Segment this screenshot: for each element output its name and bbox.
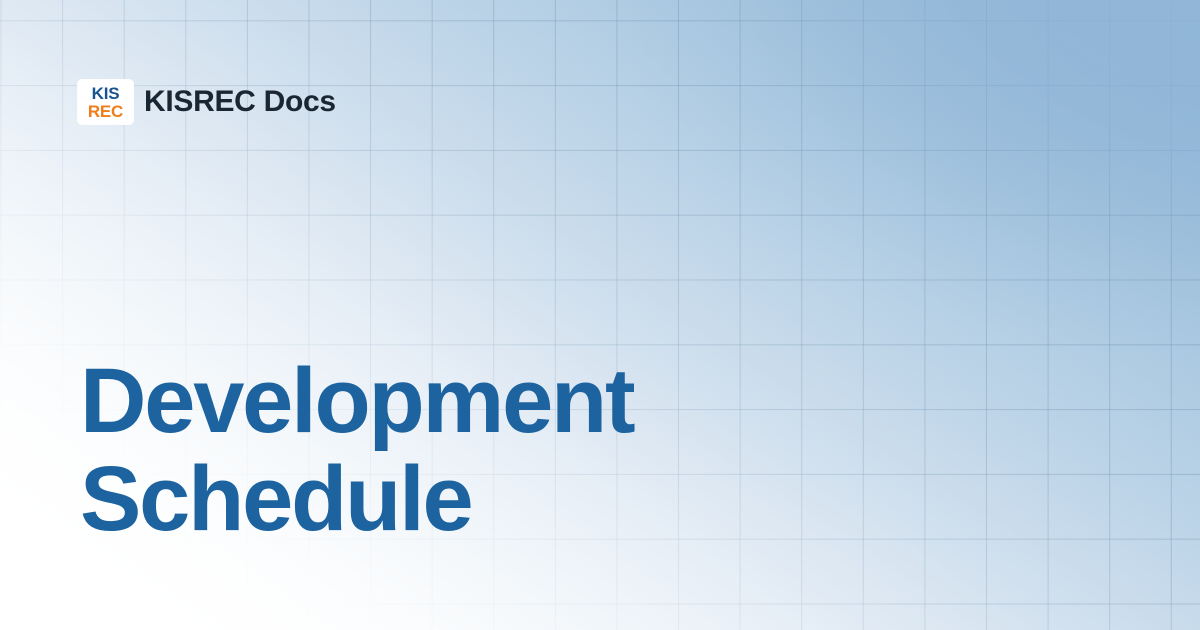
page-title-line-1: Development xyxy=(80,352,634,450)
page-title: Development Schedule xyxy=(80,352,634,549)
brand-title: KISREC Docs xyxy=(144,85,336,119)
brand-row: KIS REC KISREC Docs xyxy=(78,80,336,124)
logo-text-rec: REC xyxy=(88,103,123,120)
og-card-canvas: KIS REC KISREC Docs Development Schedule xyxy=(0,0,1200,630)
logo-text-kis: KIS xyxy=(92,85,120,102)
kisrec-logo-icon: KIS REC xyxy=(78,80,133,124)
page-title-line-2: Schedule xyxy=(80,450,634,548)
